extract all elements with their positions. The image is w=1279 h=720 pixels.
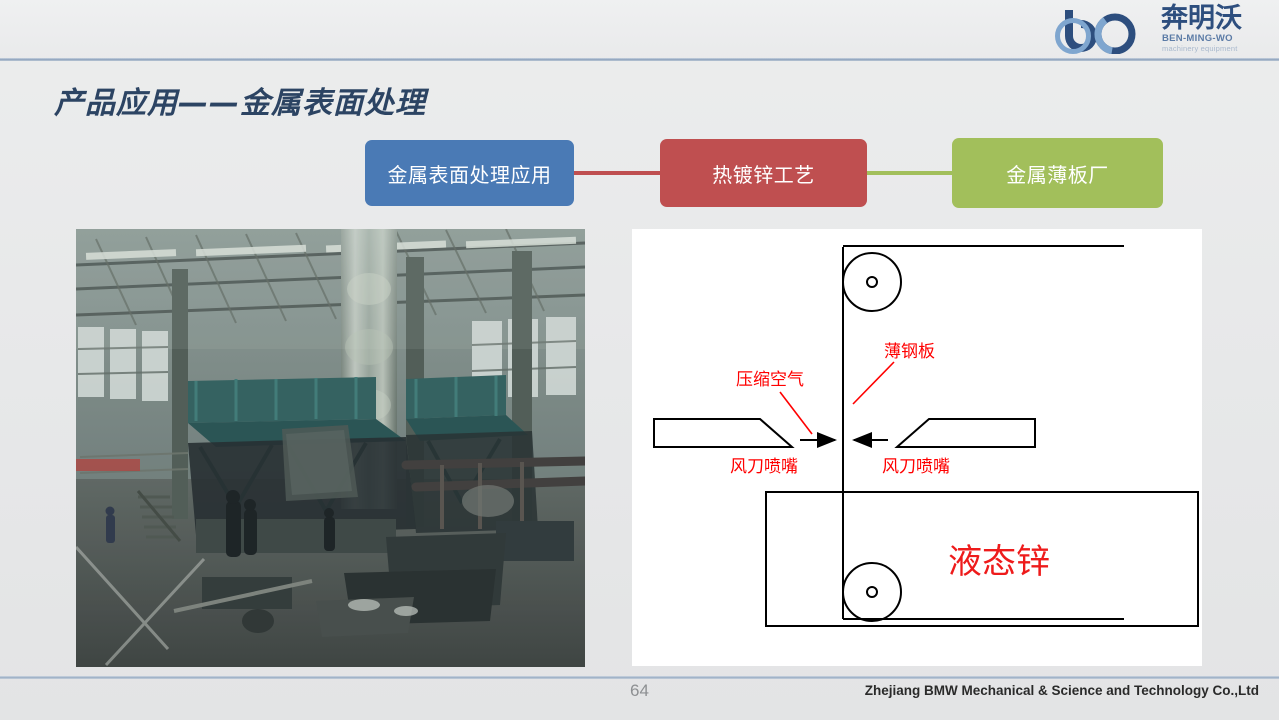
header-divider <box>0 58 1279 61</box>
label-air-knife-right: 风刀喷嘴 <box>882 457 950 477</box>
bo-logo-mark-icon <box>1055 6 1163 54</box>
label-compressed-air: 压缩空气 <box>736 370 804 390</box>
flow-box-hot-dip-galvanizing[interactable]: 热镀锌工艺 <box>660 139 867 207</box>
logo-chinese-name: 奔明沃 <box>1161 4 1242 34</box>
flow-connector-0 <box>574 171 661 175</box>
footer-company-name: Zhejiang BMW Mechanical & Science and Te… <box>865 683 1259 698</box>
label-thin-steel-plate: 薄钢板 <box>884 342 935 362</box>
logo-english-name: BEN-MING-WO <box>1162 33 1233 44</box>
footer-divider <box>0 676 1279 679</box>
company-logo: 奔明沃 BEN-MING-WO machinery equipment <box>1055 4 1273 56</box>
page-title: 产品应用——金属表面处理 <box>54 78 426 122</box>
slide-canvas: 奔明沃 BEN-MING-WO machinery equipment 产品应用… <box>0 0 1279 720</box>
flow-box-sheet-metal-plant[interactable]: 金属薄板厂 <box>952 138 1163 208</box>
label-liquid-zinc: 液态锌 <box>948 542 1050 582</box>
logo-wordmark: 奔明沃 BEN-MING-WO machinery equipment <box>1161 4 1273 56</box>
flow-connector-1 <box>866 171 953 175</box>
factory-photo <box>76 229 585 667</box>
galvanizing-schematic: 压缩空气 薄钢板 风刀喷嘴 风刀喷嘴 液态锌 <box>632 229 1202 666</box>
logo-tagline: machinery equipment <box>1162 44 1238 53</box>
flow-box-metal-surface-treatment[interactable]: 金属表面处理应用 <box>365 140 574 206</box>
label-air-knife-left: 风刀喷嘴 <box>730 457 798 477</box>
